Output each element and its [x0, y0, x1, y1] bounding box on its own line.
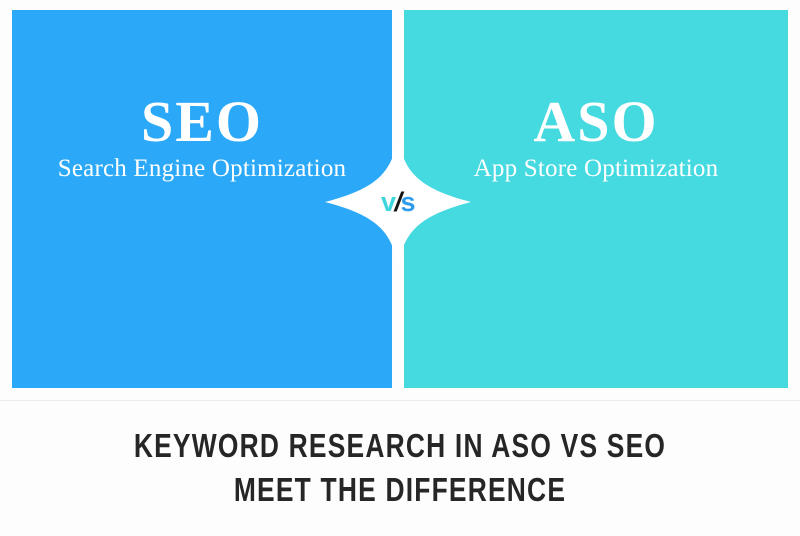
caption-line-1: Keyword Research in ASO vs SEO [80, 424, 720, 468]
aso-title: ASO [533, 93, 658, 151]
comparison-banner: SEO Search Engine Optimization ASO App S… [0, 0, 800, 400]
versus-label: v/s [325, 137, 471, 267]
caption-block: Keyword Research in ASO vs SEO Meet the … [0, 424, 800, 512]
seo-title: SEO [141, 93, 263, 151]
versus-badge: v/s [325, 137, 471, 267]
versus-s: s [401, 189, 416, 216]
aso-subtitle: App Store Optimization [474, 155, 719, 183]
horizontal-divider [0, 400, 800, 401]
seo-subtitle: Search Engine Optimization [58, 155, 346, 183]
infographic-canvas: SEO Search Engine Optimization ASO App S… [0, 0, 800, 536]
caption-line-2: Meet the Difference [80, 468, 720, 512]
